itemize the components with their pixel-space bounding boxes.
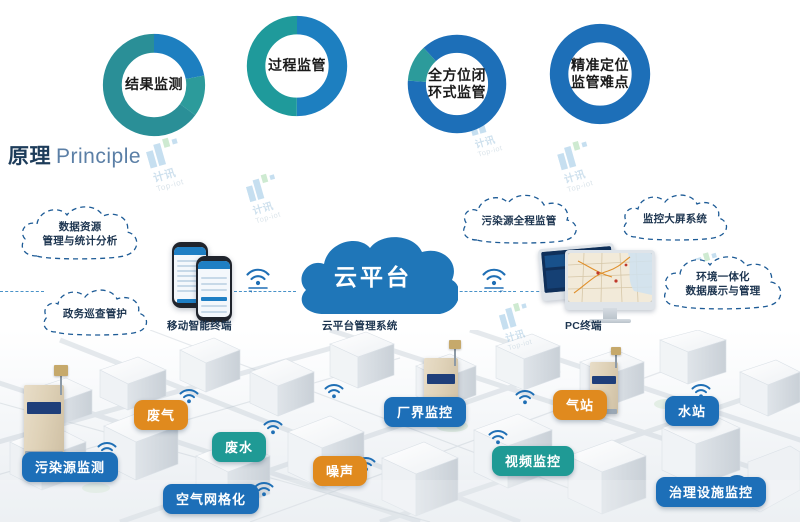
tag-noise[interactable]: 噪声: [313, 456, 367, 486]
tag-air-grid[interactable]: 空气网格化: [163, 484, 259, 514]
wifi-icon: [479, 265, 509, 293]
dashed-cloud-shape: [36, 284, 154, 344]
section-title-en: Principle: [56, 145, 141, 168]
callout-government-inspection[interactable]: 政务巡查管护: [36, 284, 154, 344]
cabinet-display-strip: [27, 402, 61, 414]
phone-screen: [198, 261, 230, 317]
cloud-platform-shape[interactable]: 云平台: [288, 232, 458, 322]
dashed-cloud-shape: [13, 198, 147, 270]
ring-chart-svg: [99, 30, 209, 140]
ring-chart-precise-positioning: 精准定位 监管难点: [546, 20, 654, 128]
tag-waste-water[interactable]: 废水: [212, 432, 266, 462]
ring-chart-svg: [243, 12, 351, 120]
smartphone-front: [196, 256, 232, 322]
wifi-transmit-icon-right: [479, 265, 509, 298]
callout-data-resource-management[interactable]: 数据资源 管理与统计分析: [13, 198, 147, 270]
wifi-signal-icon: [514, 388, 536, 411]
callout-pollution-source-supervision[interactable]: 污染源全程监管: [455, 190, 583, 252]
dashed-cloud-shape: [616, 190, 734, 248]
cabinet-body: [24, 385, 64, 457]
ring-segment: [559, 33, 641, 115]
wifi-icon: [243, 265, 273, 293]
section-title-cn: 原理: [8, 145, 51, 168]
ring-chart-closed-loop-supervision: 全方位闭 环式监管: [404, 31, 510, 137]
phone-row-highlight: [201, 297, 227, 301]
ring-chart-result-monitoring: 结果监测: [99, 30, 209, 140]
monitor-screen-map: [568, 253, 652, 302]
phone-row: [201, 305, 227, 307]
mobile-terminal-caption: 移动智能终端: [167, 318, 232, 333]
cabinet-display-strip: [592, 376, 616, 384]
map-graphic: [568, 253, 652, 302]
phone-app-header: [174, 247, 206, 255]
cabinet-display-strip: [427, 374, 456, 384]
wifi-signal-icon: [323, 382, 345, 405]
callout-integrated-environment-data[interactable]: 环境一体化 数据展示与管理: [655, 248, 791, 320]
tag-factory-boundary-monitoring[interactable]: 厂界监控: [384, 397, 466, 427]
tag-water-station[interactable]: 水站: [665, 396, 719, 426]
monitor-primary: [565, 250, 655, 310]
wifi-icon: [323, 382, 345, 400]
tag-gas-station[interactable]: 气站: [553, 390, 607, 420]
dashed-cloud-shape: [655, 248, 791, 320]
cabinet-solar-panel: [54, 365, 68, 376]
ring-chart-process-supervision: 过程监管: [243, 12, 351, 120]
monitoring-cabinet-left: [24, 385, 64, 457]
tag-video-monitoring[interactable]: 视频监控: [492, 446, 574, 476]
phone-row: [201, 277, 227, 279]
wifi-transmit-icon-left: [243, 265, 273, 298]
tag-pollution-source-monitoring[interactable]: 污染源监测: [22, 452, 118, 482]
cabinet-solar-panel: [449, 340, 461, 349]
cloud-platform-label: 云平台: [288, 232, 458, 322]
ring-chart-svg: [546, 20, 654, 128]
pc-terminal-caption: PC终端: [565, 318, 602, 333]
section-title: 原理Principle: [8, 140, 141, 170]
cloud-platform-caption: 云平台管理系统: [322, 318, 398, 333]
wifi-icon: [514, 388, 536, 406]
wifi-icon: [487, 428, 509, 446]
tag-waste-gas[interactable]: 废气: [134, 400, 188, 430]
wifi-icon: [262, 418, 284, 436]
principle-diagram-canvas: 计讯 Top-iot 计讯 Top-iot 计讯 Top-iot 计讯 Top-…: [0, 0, 800, 522]
dashed-cloud-shape: [455, 190, 583, 252]
phone-app-header: [198, 261, 230, 269]
phone-row: [201, 289, 227, 291]
tag-treatment-facility-monitoring[interactable]: 治理设施监控: [656, 477, 766, 507]
ring-chart-svg: [404, 31, 510, 137]
phone-row: [201, 283, 227, 285]
phone-row: [201, 311, 227, 313]
cabinet-solar-panel: [611, 347, 621, 355]
callout-large-screen-monitoring[interactable]: 监控大屏系统: [616, 190, 734, 248]
